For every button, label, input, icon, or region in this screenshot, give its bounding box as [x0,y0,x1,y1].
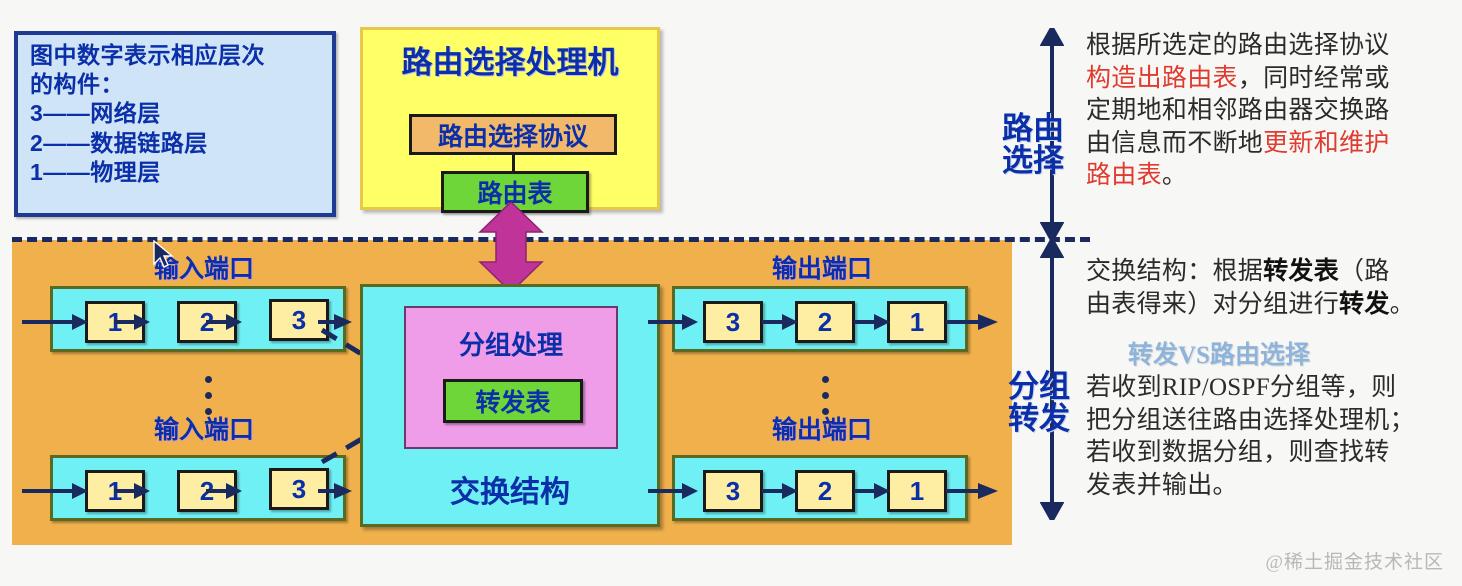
legend-box: 图中数字表示相应层次 的构件： 3——网络层 2——数据链路层 1——物理层 [14,31,336,217]
legend-line-4: 2——数据链路层 [30,129,322,158]
routing-protocol-box: 路由选择协议 [409,114,617,155]
watermark: @稀土掘金技术社区 [1266,547,1445,574]
switch-fabric-label: 交换结构 [363,467,657,511]
forwarding-note-bottom: 若收到RIP/OSPF分组等，则 把分组送往路由选择处理机； 若收到数据分组，则… [1086,372,1462,502]
routing-note-line-4: 由信息而不断地更新和维护 [1086,128,1458,161]
routing-note-line-1: 根据所选定的路由选择协议 [1086,30,1458,63]
routing-note-line-5: 路由表。 [1086,160,1458,193]
routing-processor-box: 路由选择处理机 路由选择协议 路由表 [360,27,660,210]
legend-line-1: 图中数字表示相应层次 [30,41,322,70]
forwarding-note-line-1: 交换结构：根据转发表（路 [1086,256,1462,289]
forwarding-note-line-2: 由表得来）对分组进行转发。 [1086,289,1462,322]
routing-processor-title: 路由选择处理机 [363,37,657,82]
mouse-cursor-icon [152,240,174,270]
routing-note-line-2: 构造出路由表，同时经常或 [1086,63,1458,96]
forwarding-vs-routing-subtitle: 转发VS路由选择 [1128,335,1310,371]
input-port-label-2: 输入端口 [60,410,348,446]
forwarding-table-box: 转发表 [443,379,583,423]
packet-processing-label: 分组处理 [406,325,616,362]
legend-line-2: 的构件： [30,70,322,99]
input-flow-arrows-1 [22,310,352,334]
switch-fabric-box: 分组处理 转发表 交换结构 [360,284,660,527]
routing-plane-label: 路由 选择 [994,113,1072,176]
input-port-ellipsis [205,376,212,424]
input-port-label-1: 输入端口 [60,249,348,285]
legend-line-3: 3——网络层 [30,99,322,128]
forwarding-note-line-3: 若收到RIP/OSPF分组等，则 [1086,372,1462,405]
output-flow-arrows-1 [648,310,998,334]
routing-note: 根据所选定的路由选择协议 构造出路由表，同时经常或 定期地和相邻路由器交换路 由… [1086,30,1458,193]
routing-note-line-3: 定期地和相邻路由器交换路 [1086,95,1458,128]
input-flow-arrows-2 [22,479,352,503]
forwarding-note-line-6: 发表并输出。 [1086,470,1462,503]
diagram-canvas: 图中数字表示相应层次 的构件： 3——网络层 2——数据链路层 1——物理层 路… [0,0,1462,586]
forwarding-note-top: 交换结构：根据转发表（路 由表得来）对分组进行转发。 [1086,256,1462,321]
output-port-ellipsis [822,376,829,424]
output-flow-arrows-2 [648,479,998,503]
forwarding-note-line-5: 若收到数据分组，则查找转 [1086,437,1462,470]
forwarding-plane-label: 分组 转发 [1000,371,1078,434]
forwarding-note-line-4: 把分组送往路由选择处理机； [1086,405,1462,438]
legend-line-5: 1——物理层 [30,158,322,187]
bidirectional-arrow-icon [476,202,546,292]
packet-processing-box: 分组处理 转发表 [404,306,618,449]
output-port-label-1: 输出端口 [678,249,966,285]
